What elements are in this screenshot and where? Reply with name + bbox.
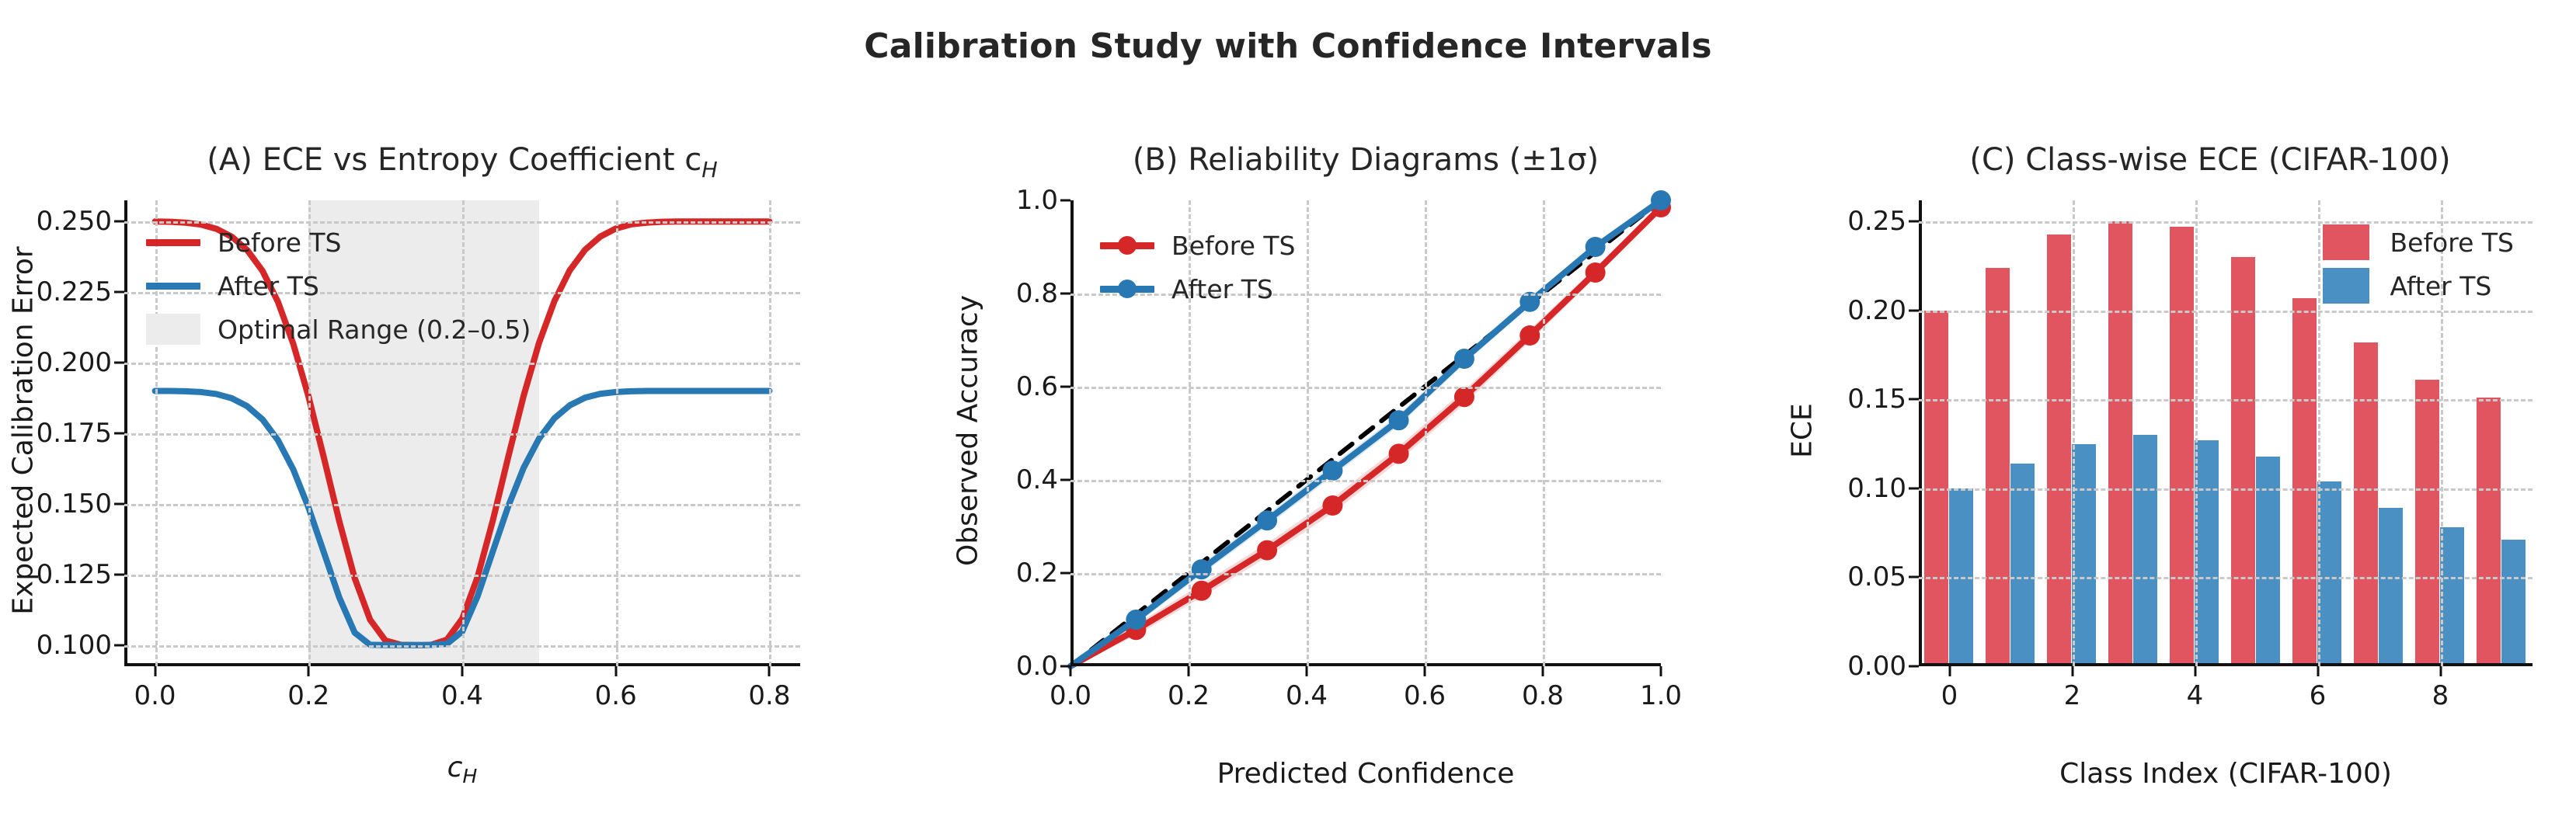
panel-b-xlabel: Predicted Confidence <box>1070 758 1661 790</box>
panel-c-title: (C) Class-wise ECE (CIFAR-100) <box>1826 142 2576 178</box>
bar-after-ts-class-9 <box>2501 540 2526 666</box>
panel-a-xlabel-text: c <box>447 752 463 783</box>
legend-label-after-ts: After TS <box>2390 271 2492 301</box>
y-tick-mark <box>1909 398 1919 401</box>
legend-line-icon-red <box>143 229 204 255</box>
y-tick-mark <box>114 502 124 505</box>
y-tick-mark <box>1060 572 1070 575</box>
panel-c-ylabel: ECE <box>1787 198 1819 664</box>
y-tick-label: 0.225 <box>37 276 112 307</box>
y-tick-label: 0.05 <box>1847 561 1906 592</box>
y-tick-label: 0.0 <box>1016 651 1058 682</box>
legend-item-after-ts[interactable]: After TS <box>2316 264 2515 307</box>
legend-marker-icon-blue <box>1097 276 1157 302</box>
x-tick-mark <box>2071 666 2073 676</box>
x-tick-label: 8 <box>2432 680 2449 711</box>
panel-a: (A) ECE vs Entropy Coefficient cH Expect… <box>0 0 909 813</box>
y-tick-label: 0.200 <box>37 347 112 378</box>
panel-c: (C) Class-wise ECE (CIFAR-100) ECE Class… <box>1756 0 2576 813</box>
x-tick-label: 0.8 <box>1522 680 1564 711</box>
x-tick-mark <box>614 666 617 676</box>
bar-after-ts-class-6 <box>2317 481 2342 666</box>
x-tick-label: 0.0 <box>1050 680 1091 711</box>
y-tick-label: 0.250 <box>37 206 112 237</box>
y-tick-label: 0.8 <box>1016 278 1058 309</box>
y-tick-label: 0.15 <box>1847 384 1906 415</box>
panel-a-title-text: (A) ECE vs Entropy Coefficient c <box>207 142 701 178</box>
x-tick-mark <box>2439 666 2442 676</box>
legend-label-after-ts: After TS <box>1171 274 1273 304</box>
x-tick-mark <box>2317 666 2319 676</box>
legend-item-before-ts[interactable]: Before TS <box>1097 224 1296 267</box>
y-tick-mark <box>1060 479 1070 481</box>
x-tick-mark <box>461 666 464 676</box>
bar-before-ts-class-6 <box>2292 298 2317 666</box>
x-tick-mark <box>1070 666 1072 676</box>
x-tick-label: 0.2 <box>287 680 329 711</box>
bar-after-ts-class-8 <box>2440 527 2465 666</box>
x-tick-mark <box>308 666 310 676</box>
y-tick-mark <box>114 573 124 575</box>
x-tick-mark <box>1306 666 1308 676</box>
legend-patch-icon-span <box>143 316 204 342</box>
y-tick-mark <box>114 291 124 294</box>
panel-b-axes: Before TS After TS 0.00.20.40.60.81.00.0… <box>1070 200 1661 666</box>
x-tick-label: 0.4 <box>1286 680 1328 711</box>
gridline-vertical <box>2195 200 2198 666</box>
legend-item-after-ts[interactable]: After TS <box>143 264 531 307</box>
y-tick-mark <box>1909 309 1919 311</box>
x-tick-mark <box>1660 666 1662 676</box>
x-tick-label: 2 <box>2064 680 2081 711</box>
x-tick-mark <box>154 666 156 676</box>
x-tick-label: 6 <box>2310 680 2327 711</box>
y-tick-label: 0.25 <box>1847 206 1906 237</box>
x-tick-mark <box>1948 666 1951 676</box>
legend-label-before-ts: Before TS <box>218 228 342 258</box>
x-tick-mark <box>768 666 771 676</box>
bar-before-ts-class-1 <box>1986 268 2010 666</box>
y-tick-label: 0.125 <box>37 559 112 590</box>
y-tick-label: 0.100 <box>37 630 112 661</box>
gridline-vertical <box>2073 200 2075 666</box>
bar-before-ts-class-4 <box>2170 227 2195 666</box>
panel-a-title: (A) ECE vs Entropy Coefficient cH <box>78 142 847 182</box>
panel-c-axes: Before TS After TS 0.000.050.100.150.200… <box>1919 200 2532 666</box>
panel-a-ylabel: Expected Calibration Error <box>8 198 40 664</box>
gridline-horizontal <box>1070 573 1661 575</box>
legend-label-before-ts: Before TS <box>2390 228 2515 258</box>
legend-marker-icon-red <box>1097 232 1157 259</box>
bar-before-ts-class-8 <box>2415 380 2440 666</box>
panel-b-ylabel: Observed Accuracy <box>952 198 984 664</box>
bar-before-ts-class-7 <box>2354 342 2379 666</box>
bar-before-ts-class-5 <box>2231 257 2256 666</box>
y-tick-mark <box>1909 487 1919 489</box>
y-tick-label: 0.20 <box>1847 295 1906 326</box>
x-tick-mark <box>2194 666 2196 676</box>
panel-c-legend: Before TS After TS <box>2316 221 2515 307</box>
legend-bar-icon-blue <box>2316 273 2376 299</box>
x-tick-label: 0.8 <box>748 680 790 711</box>
x-tick-label: 0.4 <box>441 680 483 711</box>
y-tick-label: 0.175 <box>37 418 112 449</box>
gridline-horizontal <box>1070 480 1661 482</box>
y-tick-mark <box>1909 665 1919 668</box>
panel-c-y-spine <box>1919 200 1922 666</box>
gridline-vertical <box>769 200 771 666</box>
bar-after-ts-class-1 <box>2010 464 2035 666</box>
legend-item-optimal-range[interactable]: Optimal Range (0.2–0.5) <box>143 307 531 351</box>
legend-label-after-ts: After TS <box>218 271 319 301</box>
panel-c-xlabel: Class Index (CIFAR-100) <box>1919 758 2532 790</box>
x-tick-mark <box>1188 666 1190 676</box>
y-tick-label: 0.2 <box>1016 558 1058 589</box>
legend-bar-icon-red <box>2316 229 2376 255</box>
bar-after-ts-class-4 <box>2195 440 2219 666</box>
y-tick-label: 0.150 <box>37 488 112 519</box>
figure-canvas: Calibration Study with Confidence Interv… <box>0 0 2576 813</box>
bar-after-ts-class-7 <box>2379 508 2404 666</box>
y-tick-mark <box>1060 386 1070 388</box>
bar-before-ts-class-2 <box>2047 235 2072 666</box>
bar-after-ts-class-3 <box>2133 435 2158 666</box>
y-tick-mark <box>1909 576 1919 578</box>
gridline-horizontal <box>1070 387 1661 389</box>
x-tick-label: 0.6 <box>595 680 637 711</box>
bar-after-ts-class-2 <box>2072 444 2097 666</box>
legend-item-before-ts[interactable]: Before TS <box>143 221 531 264</box>
y-tick-mark <box>1060 200 1070 202</box>
gridline-vertical <box>1543 200 1545 666</box>
x-tick-label: 0.6 <box>1404 680 1446 711</box>
x-tick-label: 1.0 <box>1640 680 1682 711</box>
panel-b-x-spine <box>1070 663 1661 666</box>
gridline-vertical <box>1307 200 1309 666</box>
x-tick-mark <box>1542 666 1544 676</box>
panel-a-xlabel: cH <box>124 752 800 787</box>
y-tick-mark <box>1909 221 1919 223</box>
panel-a-legend: Before TS After TS Optimal Range (0.2–0.… <box>143 221 531 351</box>
y-tick-mark <box>114 433 124 435</box>
panel-b: (B) Reliability Diagrams (±1σ) Observed … <box>909 0 1756 813</box>
x-tick-mark <box>1424 666 1426 676</box>
legend-label-optimal-range: Optimal Range (0.2–0.5) <box>218 314 531 345</box>
y-tick-label: 0.6 <box>1016 371 1058 402</box>
panel-a-title-sub: H <box>701 158 717 182</box>
legend-item-before-ts[interactable]: Before TS <box>2316 221 2515 264</box>
legend-label-before-ts: Before TS <box>1171 231 1296 261</box>
panel-b-legend: Before TS After TS <box>1097 224 1296 311</box>
y-tick-label: 0.4 <box>1016 464 1058 495</box>
gridline-vertical <box>1425 200 1427 666</box>
bar-before-ts-class-9 <box>2477 398 2501 666</box>
bar-before-ts-class-3 <box>2108 221 2133 666</box>
x-tick-label: 0.0 <box>134 680 176 711</box>
y-tick-mark <box>114 221 124 223</box>
gridline-vertical <box>616 200 618 666</box>
x-tick-label: 0.2 <box>1168 680 1210 711</box>
y-tick-label: 0.10 <box>1847 473 1906 504</box>
x-tick-label: 4 <box>2187 680 2204 711</box>
x-tick-label: 0 <box>1941 680 1958 711</box>
legend-item-after-ts[interactable]: After TS <box>1097 267 1296 311</box>
legend-line-icon-blue <box>143 273 204 299</box>
y-tick-mark <box>114 644 124 646</box>
panel-a-axes: Before TS After TS Optimal Range (0.2–0.… <box>124 200 800 666</box>
y-tick-mark <box>114 362 124 364</box>
y-tick-label: 1.0 <box>1016 185 1058 216</box>
panel-b-y-spine <box>1070 200 1074 666</box>
panel-a-xlabel-sub: H <box>462 765 477 787</box>
y-tick-mark <box>1060 293 1070 295</box>
panel-b-title: (B) Reliability Diagrams (±1σ) <box>1008 142 1723 178</box>
y-tick-label: 0.00 <box>1847 651 1906 682</box>
